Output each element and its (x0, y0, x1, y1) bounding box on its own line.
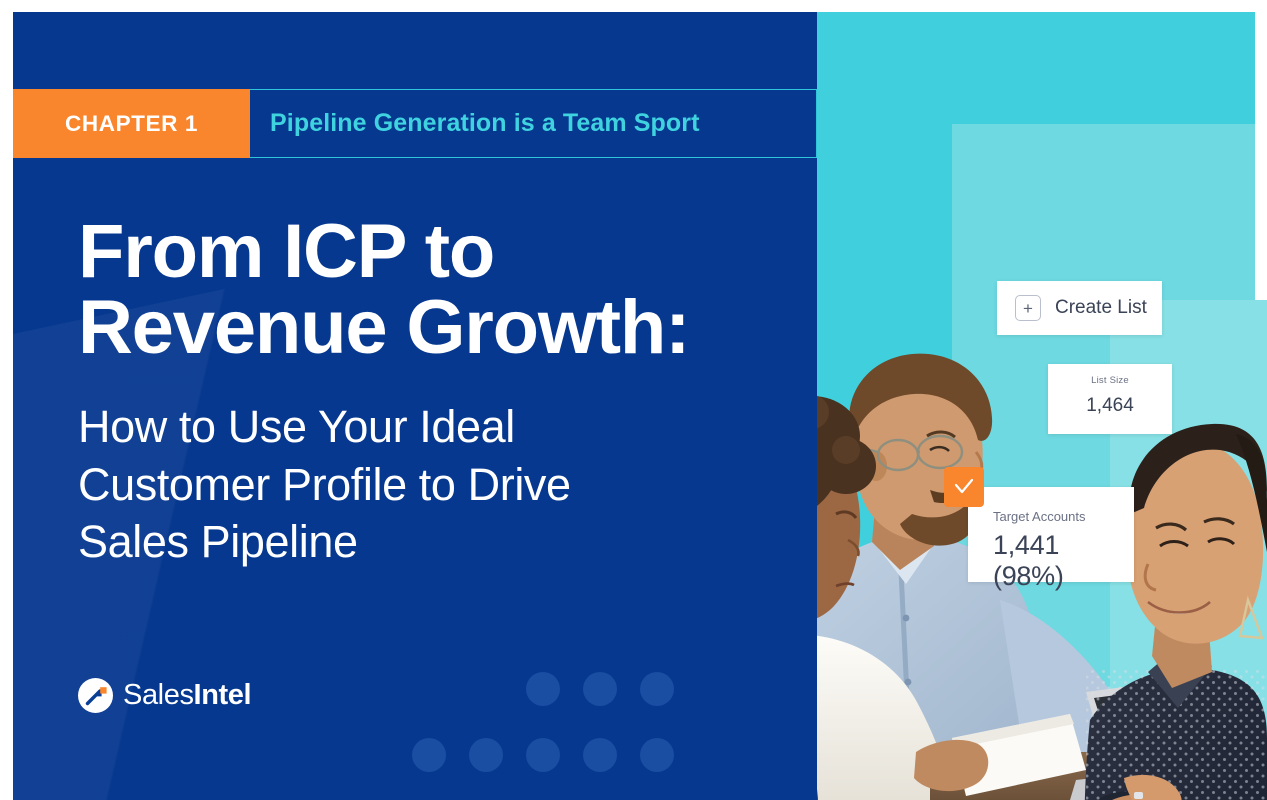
subhead-line-3: Sales Pipeline (78, 513, 638, 571)
check-icon (944, 467, 984, 507)
page-subtitle: How to Use Your Ideal Customer Profile t… (78, 398, 638, 571)
plus-icon[interactable]: + (1015, 295, 1041, 321)
headline-line-2: Revenue Growth: (78, 290, 778, 366)
list-size-card: List Size 1,464 (1048, 364, 1172, 434)
arrow-up-right-circle-icon (78, 678, 113, 713)
chapter-band: CHAPTER 1 Pipeline Generation is a Team … (13, 89, 817, 158)
target-accounts-card: Target Accounts 1,441 (98%) (968, 487, 1134, 582)
chapter-title: Pipeline Generation is a Team Sport (270, 109, 700, 138)
subhead-line-2: Customer Profile to Drive (78, 456, 638, 514)
plus-glyph: + (1023, 300, 1033, 317)
logo-word-sales: Sales (123, 679, 194, 711)
target-accounts-value: 1,441 (98%) (993, 530, 1134, 592)
list-size-value: 1,464 (1048, 395, 1172, 417)
list-size-caption: List Size (1048, 375, 1172, 386)
dot-grid-decoration (408, 672, 638, 792)
logo-word-intel: Intel (194, 679, 252, 711)
target-accounts-caption: Target Accounts (993, 509, 1134, 524)
chapter-title-box: Pipeline Generation is a Team Sport (250, 89, 817, 158)
ebook-cover: CHAPTER 1 Pipeline Generation is a Team … (0, 0, 1267, 800)
chapter-tag: CHAPTER 1 (13, 89, 250, 158)
salesintel-logo[interactable]: SalesIntel (78, 678, 251, 713)
subhead-line-1: How to Use Your Ideal (78, 398, 638, 456)
headline-line-1: From ICP to (78, 214, 778, 290)
create-list-card[interactable]: + Create List (997, 281, 1162, 335)
page-title: From ICP to Revenue Growth: (78, 214, 778, 366)
logo-wordmark: SalesIntel (123, 679, 251, 712)
create-list-label: Create List (1055, 297, 1147, 319)
